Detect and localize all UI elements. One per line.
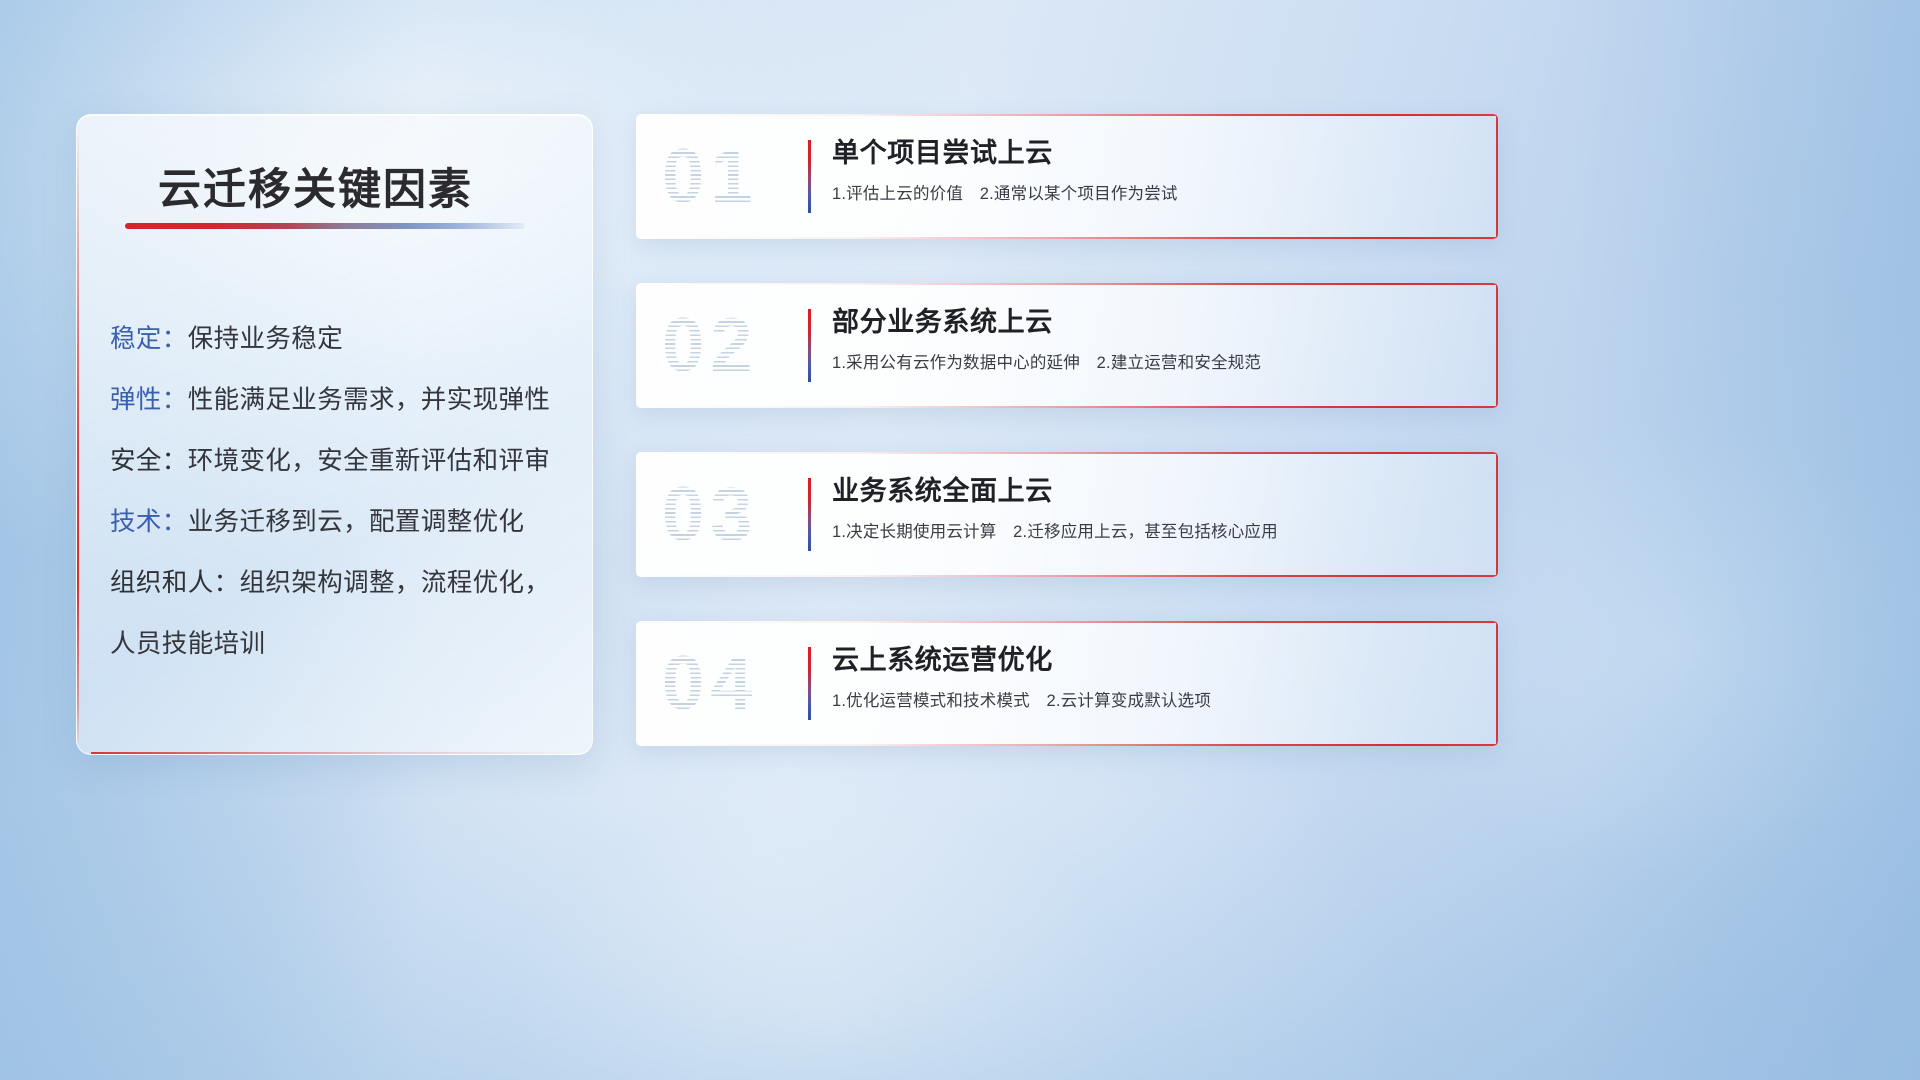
card-bottom-accent — [636, 744, 1498, 746]
card-divider-bar — [808, 140, 811, 213]
card-divider-bar — [808, 309, 811, 382]
list-item-body: 保持业务稳定 — [188, 325, 343, 353]
card-top-accent — [636, 621, 1498, 623]
list-item-label: 安全： — [110, 447, 188, 475]
card-top-accent — [636, 283, 1498, 285]
title-underline-gradient — [125, 223, 525, 229]
stage-card[interactable]: 04 云上系统运营优化 1.优化运营模式和技术模式 2.云计算变成默认选项 — [636, 621, 1498, 746]
stage-subtitle: 1.决定长期使用云计算 2.迁移应用上云，甚至包括核心应用 — [832, 518, 1478, 542]
stage-number: 01 — [662, 139, 759, 215]
card-bottom-accent — [636, 406, 1498, 408]
list-item-body: 组织架构调整，流程优化， — [240, 569, 551, 597]
page-title: 云迁移关键因素 — [158, 155, 473, 217]
card-text-block: 云上系统运营优化 1.优化运营模式和技术模式 2.云计算变成默认选项 — [832, 643, 1478, 711]
card-text-block: 单个项目尝试上云 1.评估上云的价值 2.通常以某个项目作为尝试 — [832, 136, 1478, 204]
stage-title: 业务系统全面上云 — [832, 474, 1478, 509]
list-item-body: 人员技能培训 — [110, 630, 265, 658]
list-item-body: 性能满足业务需求，并实现弹性 — [188, 386, 551, 414]
list-item: 技术：业务迁移到云，配置调整优化 — [110, 492, 568, 553]
list-item-label: 稳定： — [110, 325, 188, 353]
stage-number: 02 — [662, 308, 759, 384]
card-bottom-accent — [636, 237, 1498, 239]
migration-stages-list: 01 单个项目尝试上云 1.评估上云的价值 2.通常以某个项目作为尝试 02 部… — [636, 114, 1498, 746]
card-right-accent — [1496, 114, 1498, 239]
card-right-accent — [1496, 452, 1498, 577]
list-item: 组织和人：组织架构调整，流程优化， — [110, 553, 568, 614]
list-item-label: 弹性： — [110, 386, 188, 414]
stage-title: 部分业务系统上云 — [832, 305, 1478, 340]
card-right-accent — [1496, 283, 1498, 408]
card-divider-bar — [808, 478, 811, 551]
list-item: 稳定：保持业务稳定 — [110, 309, 568, 370]
stage-subtitle: 1.采用公有云作为数据中心的延伸 2.建立运营和安全规范 — [832, 349, 1478, 373]
stage-card[interactable]: 03 业务系统全面上云 1.决定长期使用云计算 2.迁移应用上云，甚至包括核心应… — [636, 452, 1498, 577]
list-item-label: 技术： — [110, 508, 188, 536]
list-item-body: 环境变化，安全重新评估和评审 — [188, 447, 551, 475]
stage-card[interactable]: 01 单个项目尝试上云 1.评估上云的价值 2.通常以某个项目作为尝试 — [636, 114, 1498, 239]
stage-title: 云上系统运营优化 — [832, 643, 1478, 678]
card-bottom-accent — [636, 575, 1498, 577]
card-top-accent — [636, 114, 1498, 116]
background-tint-bottom — [0, 799, 1920, 1080]
card-divider-bar — [808, 647, 811, 720]
list-item-continuation: 人员技能培训 — [110, 614, 568, 675]
key-factors-list: 稳定：保持业务稳定 弹性：性能满足业务需求，并实现弹性 安全：环境变化，安全重新… — [110, 309, 568, 675]
list-item-body: 业务迁移到云，配置调整优化 — [188, 508, 525, 536]
stage-title: 单个项目尝试上云 — [832, 136, 1478, 171]
card-text-block: 部分业务系统上云 1.采用公有云作为数据中心的延伸 2.建立运营和安全规范 — [832, 305, 1478, 373]
panel-left-accent-bar — [77, 123, 79, 746]
stage-number: 03 — [662, 477, 759, 553]
card-right-accent — [1496, 621, 1498, 746]
panel-bottom-accent-bar — [91, 752, 578, 754]
list-item: 安全：环境变化，安全重新评估和评审 — [110, 431, 568, 492]
stage-subtitle: 1.评估上云的价值 2.通常以某个项目作为尝试 — [832, 180, 1478, 204]
stage-subtitle: 1.优化运营模式和技术模式 2.云计算变成默认选项 — [832, 687, 1478, 711]
card-top-accent — [636, 452, 1498, 454]
list-item-label: 组织和人： — [110, 569, 240, 597]
card-text-block: 业务系统全面上云 1.决定长期使用云计算 2.迁移应用上云，甚至包括核心应用 — [832, 474, 1478, 542]
stage-number: 04 — [662, 646, 759, 722]
key-factors-panel: 云迁移关键因素 稳定：保持业务稳定 弹性：性能满足业务需求，并实现弹性 安全：环… — [76, 114, 593, 755]
stage-card[interactable]: 02 部分业务系统上云 1.采用公有云作为数据中心的延伸 2.建立运营和安全规范 — [636, 283, 1498, 408]
list-item: 弹性：性能满足业务需求，并实现弹性 — [110, 370, 568, 431]
